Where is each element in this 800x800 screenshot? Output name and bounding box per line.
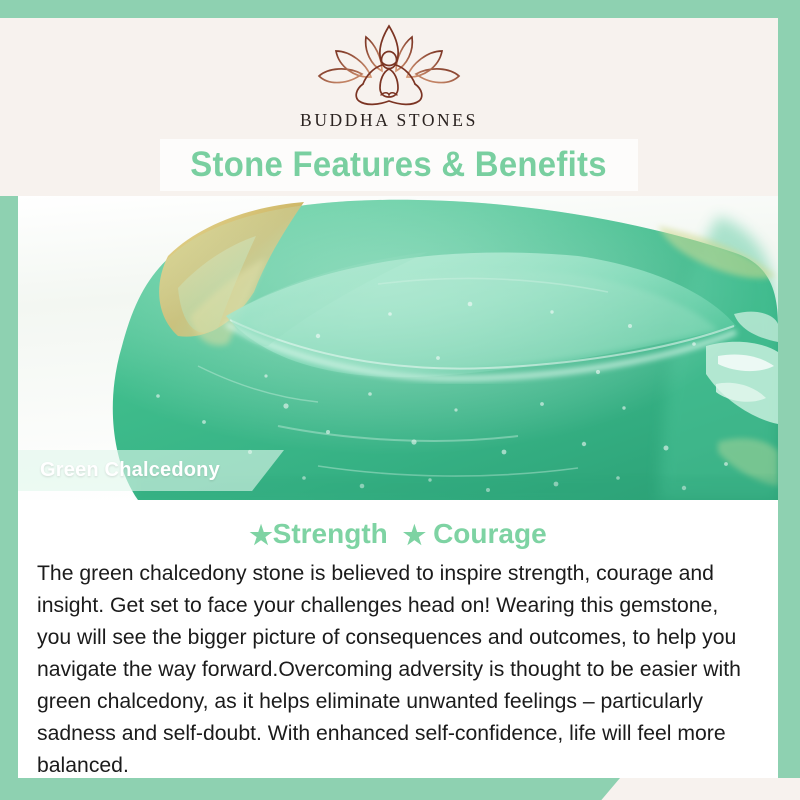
brand-logo-block: BUDDHA STONES [0,22,778,140]
frame-bottom-cream [600,778,800,800]
frame-top-bar [0,0,800,18]
body-panel: ★Strength★Courage The green chalcedony s… [18,500,778,778]
stone-name-band: Green Chalcedony [18,450,284,491]
frame-bottom-band [0,778,620,800]
title-banner: Stone Features & Benefits [160,139,638,191]
star-icon-second: ★ [403,520,426,551]
brand-name: BUDDHA STONES [300,110,478,131]
poster-root: BUDDHA STONES Stone Features & Benefits [0,0,800,800]
frame-left-bar [0,204,18,779]
description-paragraph: The green chalcedony stone is believed t… [37,557,754,781]
frame-right-bar [778,0,800,800]
keyword-courage: Courage [433,518,547,549]
page-title: Stone Features & Benefits [191,145,608,185]
stone-name-label: Green Chalcedony [40,459,220,482]
keyword-strength: Strength [273,518,388,549]
lotus-meditation-icon [314,22,464,108]
star-icon-first: ★ [249,520,272,551]
keywords-row: ★Strength★Courage [18,518,778,551]
